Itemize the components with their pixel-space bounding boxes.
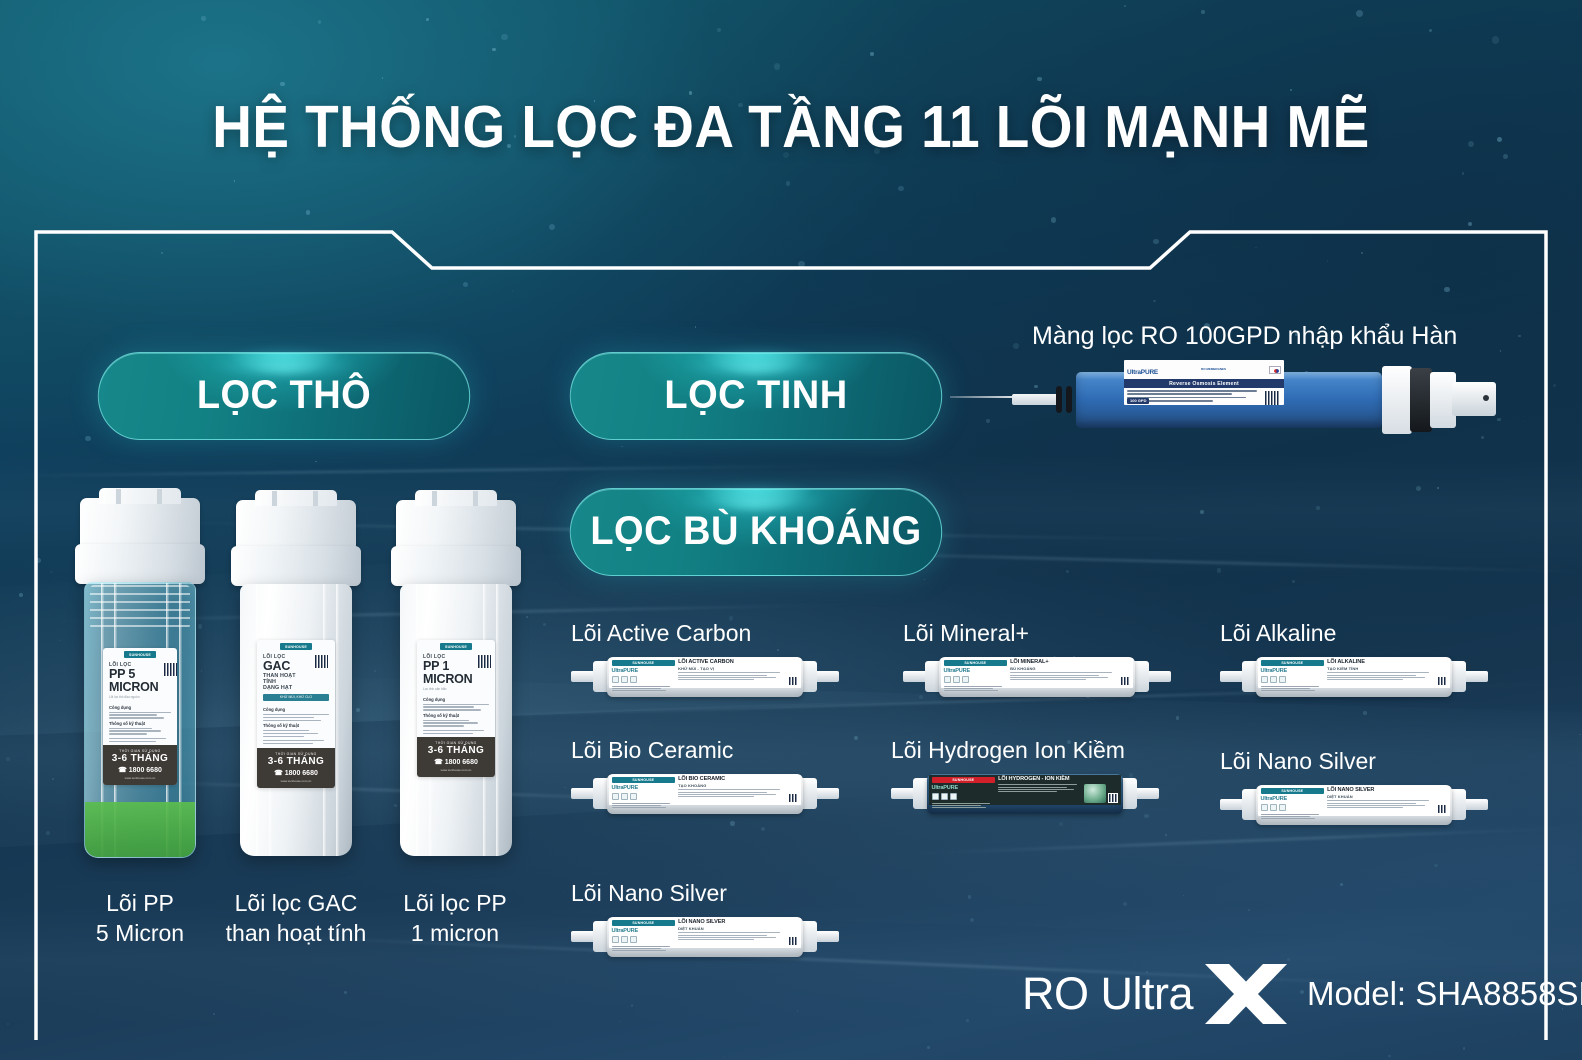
stage-label-loc-tho: LỌC THÔ	[197, 373, 371, 418]
bubble-particle	[1176, 716, 1179, 719]
cartridge-brand: SUNHOUSE	[932, 777, 996, 783]
cartridge-body-text	[678, 789, 786, 803]
label-title: GAC	[263, 660, 310, 673]
cartridge-sub-brand: UltraPURE	[944, 668, 1008, 674]
cartridge-label-sub: TẠO KHOÁNG	[678, 783, 798, 788]
cartridge-label-main: LÕI HYDROGEN - ION KIỀM	[998, 777, 1118, 783]
cartridge-body-text	[1327, 800, 1435, 814]
cartridge-brand: SUNHOUSE	[1261, 660, 1325, 666]
certification-icons	[932, 793, 996, 800]
cartridge-label-sub: BÙ KHOÁNG	[1010, 666, 1130, 671]
cartridge-brand: SUNHOUSE	[944, 660, 1008, 666]
label-subtitle: Lõi lọc thô đầu nguồn	[109, 695, 159, 699]
label-title: PP 1	[423, 660, 473, 673]
bubble-particle	[52, 778, 54, 780]
housing-product-label: LÕI LỌCGACTHAN HOẠT TÍNHDẠNG HẠTKHỬ MÙI,…	[257, 640, 335, 788]
housing-cap-notch	[313, 491, 318, 506]
label-duration-block: THỜI GIAN SỬ DỤNG3-6 THÁNG☎ 1800 6680www…	[257, 748, 335, 788]
cartridge-nano-silver-right[interactable]: Lõi Nano SilverSUNHOUSEUltraPURELÕI NANO…	[1220, 748, 1488, 829]
hotline-number: ☎ 1800 6680	[421, 758, 491, 766]
cartridge-brand: SUNHOUSE	[612, 920, 676, 926]
label-section-1: Công dụng	[423, 697, 489, 702]
label-body-text: Công dụngThông số kỹ thuật	[257, 701, 335, 748]
label-tag: KHỬ MÙI, KHỬ CLO	[263, 694, 329, 701]
membrane-caption: Màng lọc RO 100GPD nhập khẩu Hàn	[1032, 322, 1457, 351]
membrane-brand: UltraPURE	[1127, 369, 1158, 376]
housing-thread-rings	[90, 585, 191, 629]
drop-icon	[1279, 676, 1286, 683]
bubble-particle	[426, 18, 429, 21]
bubble-particle	[1437, 487, 1439, 489]
bubble-particle	[1356, 10, 1363, 17]
housing-caption-line1: Lõi lọc GAC	[206, 888, 386, 918]
housing-caption-line2: 5 Micron	[60, 918, 220, 948]
filter-housing-pp1[interactable]: LÕI LỌCPP 1MICRONLọc tinh cặn bẩnCông dụ…	[388, 500, 524, 856]
bubble-particle	[1200, 510, 1204, 514]
pill-glow	[652, 475, 859, 509]
cartridge-title: Lõi Alkaline	[1220, 620, 1488, 647]
bubble-particle	[50, 571, 52, 573]
bubble-particle	[543, 623, 546, 626]
cartridge-image: SUNHOUSEUltraPURELÕI ALKALINETẠO KIỀM TÍ…	[1220, 653, 1488, 701]
bubble-particle	[620, 1021, 622, 1023]
bubble-particle	[1429, 29, 1432, 32]
bubble-particle	[564, 787, 565, 788]
bubble-particle	[1468, 222, 1473, 227]
bubble-particle	[19, 593, 23, 597]
bubble-particle	[1217, 568, 1221, 572]
bubble-particle	[1497, 418, 1501, 422]
cartridge-sub-brand: UltraPURE	[932, 785, 996, 791]
certification-icons	[612, 793, 676, 800]
cartridge-image: SUNHOUSEUltraPURELÕI BIO CERAMICTẠO KHOÁ…	[571, 770, 839, 818]
bubble-particle	[695, 326, 696, 327]
check-icon	[612, 793, 619, 800]
qr-code-icon	[788, 936, 798, 946]
housing-product-label: LÕI LỌCPP 5MICRONLõi lọc thô đầu nguồnCô…	[103, 648, 177, 785]
cartridge-body-text	[998, 784, 1082, 803]
cartridge-brand: SUNHOUSE	[1261, 788, 1325, 794]
cartridge-image: SUNHOUSEUltraPURELÕI HYDROGEN - ION KIỀM	[891, 770, 1159, 818]
bubble-particle	[927, 1046, 930, 1049]
label-title: PP 5	[109, 668, 159, 681]
cartridge-sub-brand: UltraPURE	[1261, 796, 1325, 802]
certification-icons	[944, 676, 1008, 683]
housing-product-label: LÕI LỌCPP 1MICRONLọc tinh cặn bẩnCông dụ…	[417, 640, 495, 777]
brand-name: RO Ultra	[1022, 968, 1193, 1020]
cartridge-label: SUNHOUSEUltraPURELÕI NANO SILVERDIỆT KHU…	[609, 918, 802, 948]
label-section-1: Công dụng	[263, 707, 329, 712]
label-subtitle: Lọc tinh cặn bẩn	[423, 687, 473, 691]
drop-icon	[950, 793, 957, 800]
page-title: HỆ THỐNG LỌC ĐA TẦNG 11 LÕI MẠNH MẼ	[55, 98, 1526, 157]
filter-housing-gac[interactable]: LÕI LỌCGACTHAN HOẠT TÍNHDẠNG HẠTKHỬ MÙI,…	[228, 500, 364, 856]
drop-icon	[630, 793, 637, 800]
bubble-particle	[463, 282, 468, 287]
water-streak	[900, 827, 1580, 855]
bubble-particle	[60, 640, 61, 641]
stage-label-loc-bu-khoang: LỌC BÙ KHOÁNG	[590, 509, 921, 554]
bubble-particle	[1416, 486, 1421, 491]
bubble-particle	[306, 210, 311, 215]
bubble-particle	[492, 48, 496, 52]
cartridge-image: SUNHOUSEUltraPURELÕI NANO SILVERDIỆT KHU…	[1220, 781, 1488, 829]
cartridge-nano-silver-bottom[interactable]: Lõi Nano SilverSUNHOUSEUltraPURELÕI NANO…	[571, 880, 839, 961]
bubble-particle	[854, 736, 858, 740]
cartridge-label-sub: KHỬ MÙI - TẠO VỊ	[678, 666, 798, 671]
bubble-particle	[1388, 1055, 1391, 1058]
bubble-particle	[898, 186, 904, 192]
cartridge-title: Lõi Bio Ceramic	[571, 737, 839, 764]
bubble-particle	[1066, 570, 1069, 573]
label-title-2: MICRON	[423, 673, 473, 686]
bubble-particle	[1292, 580, 1295, 583]
housing-collar	[391, 546, 522, 586]
cartridge-fineprint	[612, 945, 676, 952]
shield-icon	[621, 936, 628, 943]
qr-code-icon	[1437, 676, 1447, 686]
cartridge-fineprint	[1261, 685, 1325, 692]
bubble-particle	[1153, 239, 1159, 245]
bubble-particle	[1463, 1047, 1466, 1050]
bubble-particle	[201, 16, 206, 21]
stage-badge-loc-tho[interactable]: LỌC THÔ	[98, 352, 470, 440]
bubble-particle	[631, 1004, 634, 1007]
shield-icon	[1270, 804, 1277, 811]
label-body-text: Công dụngThông số kỹ thuật	[417, 691, 495, 738]
bubble-particle	[761, 827, 765, 831]
label-section-2: Thông số kỹ thuật	[423, 713, 489, 718]
drop-icon	[1279, 804, 1286, 811]
housing-cap-notch	[272, 491, 277, 506]
bubble-particle	[1579, 734, 1580, 735]
bubble-particle	[1165, 834, 1167, 836]
label-title-2: THAN HOẠT TÍNH	[263, 673, 310, 685]
cartridge-body-text	[678, 672, 786, 686]
cartridge-fineprint	[944, 685, 1008, 692]
membrane-type-bar: Reverse Osmosis Element	[1124, 379, 1284, 388]
bubble-particle	[1123, 902, 1127, 906]
housing-cap-notch	[157, 489, 162, 504]
bubble-particle	[797, 1010, 799, 1012]
bubble-particle	[786, 181, 790, 185]
cartridge-label: SUNHOUSEUltraPURELÕI ACTIVE CARBONKHỬ MÙ…	[609, 658, 802, 688]
website-url: www.sunhouse.com.vn	[107, 776, 173, 780]
bubble-particle	[1248, 909, 1250, 911]
bubble-particle	[1255, 247, 1257, 249]
label-title-2: MICRON	[109, 681, 159, 694]
check-icon	[612, 676, 619, 683]
bubble-particle	[526, 616, 528, 618]
brand-x-logo-icon	[1203, 958, 1289, 1030]
bubble-particle	[1553, 384, 1556, 387]
shield-icon	[953, 676, 960, 683]
label-section-2: Thông số kỹ thuật	[109, 721, 171, 726]
membrane-outlet-tip	[1452, 382, 1496, 416]
bubble-particle	[512, 290, 514, 292]
check-icon	[612, 936, 619, 943]
stage-label-loc-tinh: LỌC TINH	[664, 373, 847, 418]
poster-root: HỆ THỐNG LỌC ĐA TẦNG 11 LÕI MẠNH MẼ LỌC …	[0, 0, 1582, 1060]
bubble-particle	[1327, 260, 1328, 261]
label-title-3: DẠNG HẠT	[263, 685, 310, 691]
membrane-cap-white	[1382, 366, 1412, 434]
cartridge-body-text	[1010, 672, 1118, 686]
cartridge-fineprint	[1261, 813, 1325, 820]
bubble-particle	[1500, 350, 1501, 351]
cartridge-label: SUNHOUSEUltraPURELÕI BIO CERAMICTẠO KHOÁ…	[609, 775, 802, 805]
bubble-particle	[344, 991, 347, 994]
bubble-particle	[1013, 343, 1019, 349]
housing-rib	[496, 584, 499, 856]
cartridge-body-text	[678, 932, 786, 946]
sunhouse-brand-mark	[440, 643, 473, 650]
bubble-particle	[6, 757, 10, 761]
duration-value: 3-6 THÁNG	[261, 756, 331, 767]
check-icon	[1261, 804, 1268, 811]
membrane-oring-2	[1066, 386, 1072, 413]
bubble-particle	[7, 1023, 9, 1025]
website-url: www.sunhouse.com.vn	[261, 779, 331, 783]
cartridge-bio-ceramic[interactable]: Lõi Bio CeramicSUNHOUSEUltraPURELÕI BIO …	[571, 737, 839, 818]
qr-code-icon	[788, 676, 798, 686]
duration-caption: THỜI GIAN SỬ DỤNG	[261, 752, 331, 756]
housing-collar	[231, 546, 362, 586]
bubble-particle	[36, 558, 41, 563]
housing-cap-notch	[473, 491, 478, 506]
bubble-particle	[986, 419, 990, 423]
bubble-particle	[161, 252, 163, 254]
cartridge-label: SUNHOUSEUltraPURELÕI HYDROGEN - ION KIỀM	[929, 775, 1122, 805]
bubble-particle	[730, 821, 734, 825]
bubble-particle	[315, 461, 316, 462]
cartridge-title: Lõi Hydrogen Ion Kiềm	[891, 737, 1159, 764]
qr-code-icon	[477, 654, 492, 669]
housing-caption-line2: than hoạt tính	[206, 918, 386, 948]
bubble-particle	[62, 601, 63, 602]
bubble-particle	[85, 436, 91, 442]
bubble-particle	[1444, 287, 1450, 293]
bubble-particle	[374, 670, 376, 672]
bubble-particle	[924, 579, 925, 580]
pill-glow	[652, 339, 859, 373]
cartridge-fineprint	[932, 802, 996, 809]
bubble-particle	[213, 1013, 215, 1015]
bubble-particle	[318, 20, 321, 23]
shield-icon	[1270, 676, 1277, 683]
cartridge-title: Lõi Nano Silver	[571, 880, 839, 907]
duration-value: 3-6 THÁNG	[107, 753, 173, 764]
membrane-gpd-badge: 100 GPD	[1127, 398, 1149, 404]
membrane-stem-left	[1012, 394, 1058, 405]
korea-flag-icon	[1269, 366, 1281, 374]
bubble-particle	[1492, 36, 1499, 43]
pill-glow	[180, 339, 387, 373]
cartridge-fineprint	[612, 802, 676, 809]
bubble-particle	[798, 261, 805, 268]
qr-code-icon	[1264, 390, 1281, 405]
housing-caption-line1: Lõi lọc PP	[375, 888, 535, 918]
housing-collar	[75, 544, 206, 584]
cartridge-label: SUNHOUSEUltraPURELÕI ALKALINETẠO KIỀM TÍ…	[1258, 658, 1451, 688]
cartridge-brand: SUNHOUSE	[612, 777, 676, 783]
qr-code-icon	[1120, 676, 1130, 686]
housing-caption-line2: 1 micron	[375, 918, 535, 948]
cartridge-hydrogen-ion-kiem[interactable]: Lõi Hydrogen Ion KiềmSUNHOUSEUltraPURELÕ…	[891, 737, 1159, 818]
cartridge-mineral-plus[interactable]: Lõi Mineral+SUNHOUSEUltraPURELÕI MINERAL…	[903, 620, 1171, 701]
cartridge-body-text	[1327, 672, 1435, 686]
leaf-graphic-icon	[1084, 784, 1106, 803]
bubble-particle	[717, 28, 721, 32]
website-url: www.sunhouse.com.vn	[421, 768, 491, 772]
bubble-particle	[234, 180, 236, 182]
product-branding: RO Ultra Model: SHA8858SH	[1022, 958, 1582, 1030]
label-section-2: Thông số kỹ thuật	[263, 723, 329, 728]
housing-caption-pp1: Lõi lọc PP 1 micron	[375, 888, 535, 949]
bubble-particle	[1340, 883, 1343, 886]
cartridge-active-carbon[interactable]: Lõi Active CarbonSUNHOUSEUltraPURELÕI AC…	[571, 620, 839, 701]
bubble-particle	[501, 34, 507, 40]
duration-value: 3-6 THÁNG	[421, 745, 491, 756]
bubble-particle	[968, 895, 971, 898]
bubble-particle	[970, 918, 974, 922]
membrane-seal-black	[1410, 368, 1432, 432]
membrane-brand-sub: RO MEMBRANES	[1201, 368, 1226, 371]
housing-caption-gac: Lõi lọc GAC than hoạt tính	[206, 888, 386, 949]
ro-membrane-image: UltraPURE RO MEMBRANES Reverse Osmosis E…	[1012, 350, 1492, 448]
duration-caption: THỜI GIAN SỬ DỤNG	[107, 749, 173, 753]
filter-housing-pp5[interactable]: LÕI LỌCPP 5MICRONLõi lọc thô đầu nguồnCô…	[72, 498, 208, 858]
cartridge-label-sub: DIỆT KHUẨN	[678, 926, 798, 931]
qr-code-icon	[314, 654, 329, 669]
cartridge-alkaline[interactable]: Lõi AlkalineSUNHOUSEUltraPURELÕI ALKALIN…	[1220, 620, 1488, 701]
bubble-particle	[1059, 822, 1063, 826]
qr-code-icon	[1108, 793, 1118, 803]
cartridge-title: Lõi Mineral+	[903, 620, 1171, 647]
bubble-particle	[280, 82, 285, 87]
check-icon	[944, 676, 951, 683]
duration-caption: THỜI GIAN SỬ DỤNG	[421, 741, 491, 745]
bubble-particle	[774, 63, 781, 70]
housing-media-fill	[85, 802, 195, 857]
cartridge-title: Lõi Active Carbon	[571, 620, 839, 647]
bubble-particle	[1361, 252, 1363, 254]
cartridge-brand: SUNHOUSE	[612, 660, 676, 666]
bubble-particle	[1051, 217, 1056, 222]
drop-icon	[962, 676, 969, 683]
bubble-particle	[870, 52, 874, 56]
cartridge-title: Lõi Nano Silver	[1220, 748, 1488, 775]
cartridge-sub-brand: UltraPURE	[612, 785, 676, 791]
label-duration-block: THỜI GIAN SỬ DỤNG3-6 THÁNG☎ 1800 6680www…	[417, 737, 495, 777]
drop-icon	[630, 676, 637, 683]
housing-caption-pp5: Lõi PP 5 Micron	[60, 888, 220, 949]
cartridge-label: SUNHOUSEUltraPURELÕI NANO SILVERDIỆT KHU…	[1258, 786, 1451, 816]
certification-icons	[1261, 804, 1325, 811]
housing-rib	[336, 584, 339, 856]
cartridge-fineprint	[612, 685, 676, 692]
check-icon	[1261, 676, 1268, 683]
bubble-particle	[966, 1019, 969, 1022]
bubble-particle	[549, 224, 555, 230]
shield-icon	[621, 793, 628, 800]
certification-icons	[612, 676, 676, 683]
water-streak	[0, 465, 860, 478]
cartridge-sub-brand: UltraPURE	[1261, 668, 1325, 674]
bubble-particle	[1020, 720, 1021, 721]
product-model: Model: SHA8858SH	[1307, 975, 1582, 1013]
drop-icon	[630, 936, 637, 943]
bubble-particle	[1316, 506, 1320, 510]
stage-badge-loc-bu-khoang[interactable]: LỌC BÙ KHOÁNG	[570, 488, 942, 576]
bubble-particle	[1037, 77, 1041, 81]
bubble-particle	[46, 831, 50, 835]
bubble-particle	[1183, 895, 1184, 896]
cartridge-image: SUNHOUSEUltraPURELÕI ACTIVE CARBONKHỬ MÙ…	[571, 653, 839, 701]
certification-icons	[1261, 676, 1325, 683]
certification-icons	[612, 936, 676, 943]
cartridge-image: SUNHOUSEUltraPURELÕI NANO SILVERDIỆT KHU…	[571, 913, 839, 961]
qr-code-icon	[1437, 804, 1447, 814]
bubble-particle	[1290, 89, 1291, 90]
bubble-particle	[1363, 711, 1367, 715]
cartridge-label-sub: DIỆT KHUẨN	[1327, 794, 1447, 799]
cartridge-sub-brand: UltraPURE	[612, 668, 676, 674]
bubble-particle	[1518, 335, 1520, 337]
sunhouse-brand-mark	[124, 651, 155, 658]
housing-cap-notch	[432, 491, 437, 506]
shield-icon	[621, 676, 628, 683]
check-icon	[932, 793, 939, 800]
cartridge-label-sub: TẠO KIỀM TÍNH	[1327, 666, 1447, 671]
hotline-number: ☎ 1800 6680	[107, 766, 173, 774]
bubble-particle	[723, 1056, 724, 1057]
cartridge-label: SUNHOUSEUltraPURELÕI MINERAL+BÙ KHOÁNG	[941, 658, 1134, 688]
bubble-particle	[382, 77, 384, 79]
shield-icon	[941, 793, 948, 800]
bubble-particle	[564, 892, 566, 894]
bubble-particle	[1124, 5, 1126, 7]
label-section-1: Công dụng	[109, 705, 171, 710]
label-body-text: Công dụngThông số kỹ thuật	[103, 699, 177, 746]
sunhouse-brand-mark	[280, 643, 313, 650]
stage-badge-loc-tinh[interactable]: LỌC TINH	[570, 352, 942, 440]
bubble-particle	[1462, 172, 1464, 174]
housing-caption-line1: Lõi PP	[60, 888, 220, 918]
label-duration-block: THỜI GIAN SỬ DỤNG3-6 THÁNG☎ 1800 6680www…	[103, 745, 177, 785]
bubble-particle	[1523, 421, 1524, 422]
bubble-particle	[1201, 10, 1205, 14]
cartridge-image: SUNHOUSEUltraPURELÕI MINERAL+BÙ KHOÁNG	[903, 653, 1171, 701]
membrane-oring-1	[1056, 386, 1062, 413]
bubble-particle	[1153, 300, 1156, 303]
bubble-particle	[1434, 864, 1437, 867]
bubble-particle	[621, 446, 623, 448]
housing-cap-notch	[116, 489, 121, 504]
hotline-number: ☎ 1800 6680	[261, 769, 331, 777]
cartridge-sub-brand: UltraPURE	[612, 928, 676, 934]
qr-code-icon	[163, 662, 178, 677]
qr-code-icon	[788, 793, 798, 803]
membrane-label: UltraPURE RO MEMBRANES Reverse Osmosis E…	[1124, 360, 1284, 405]
